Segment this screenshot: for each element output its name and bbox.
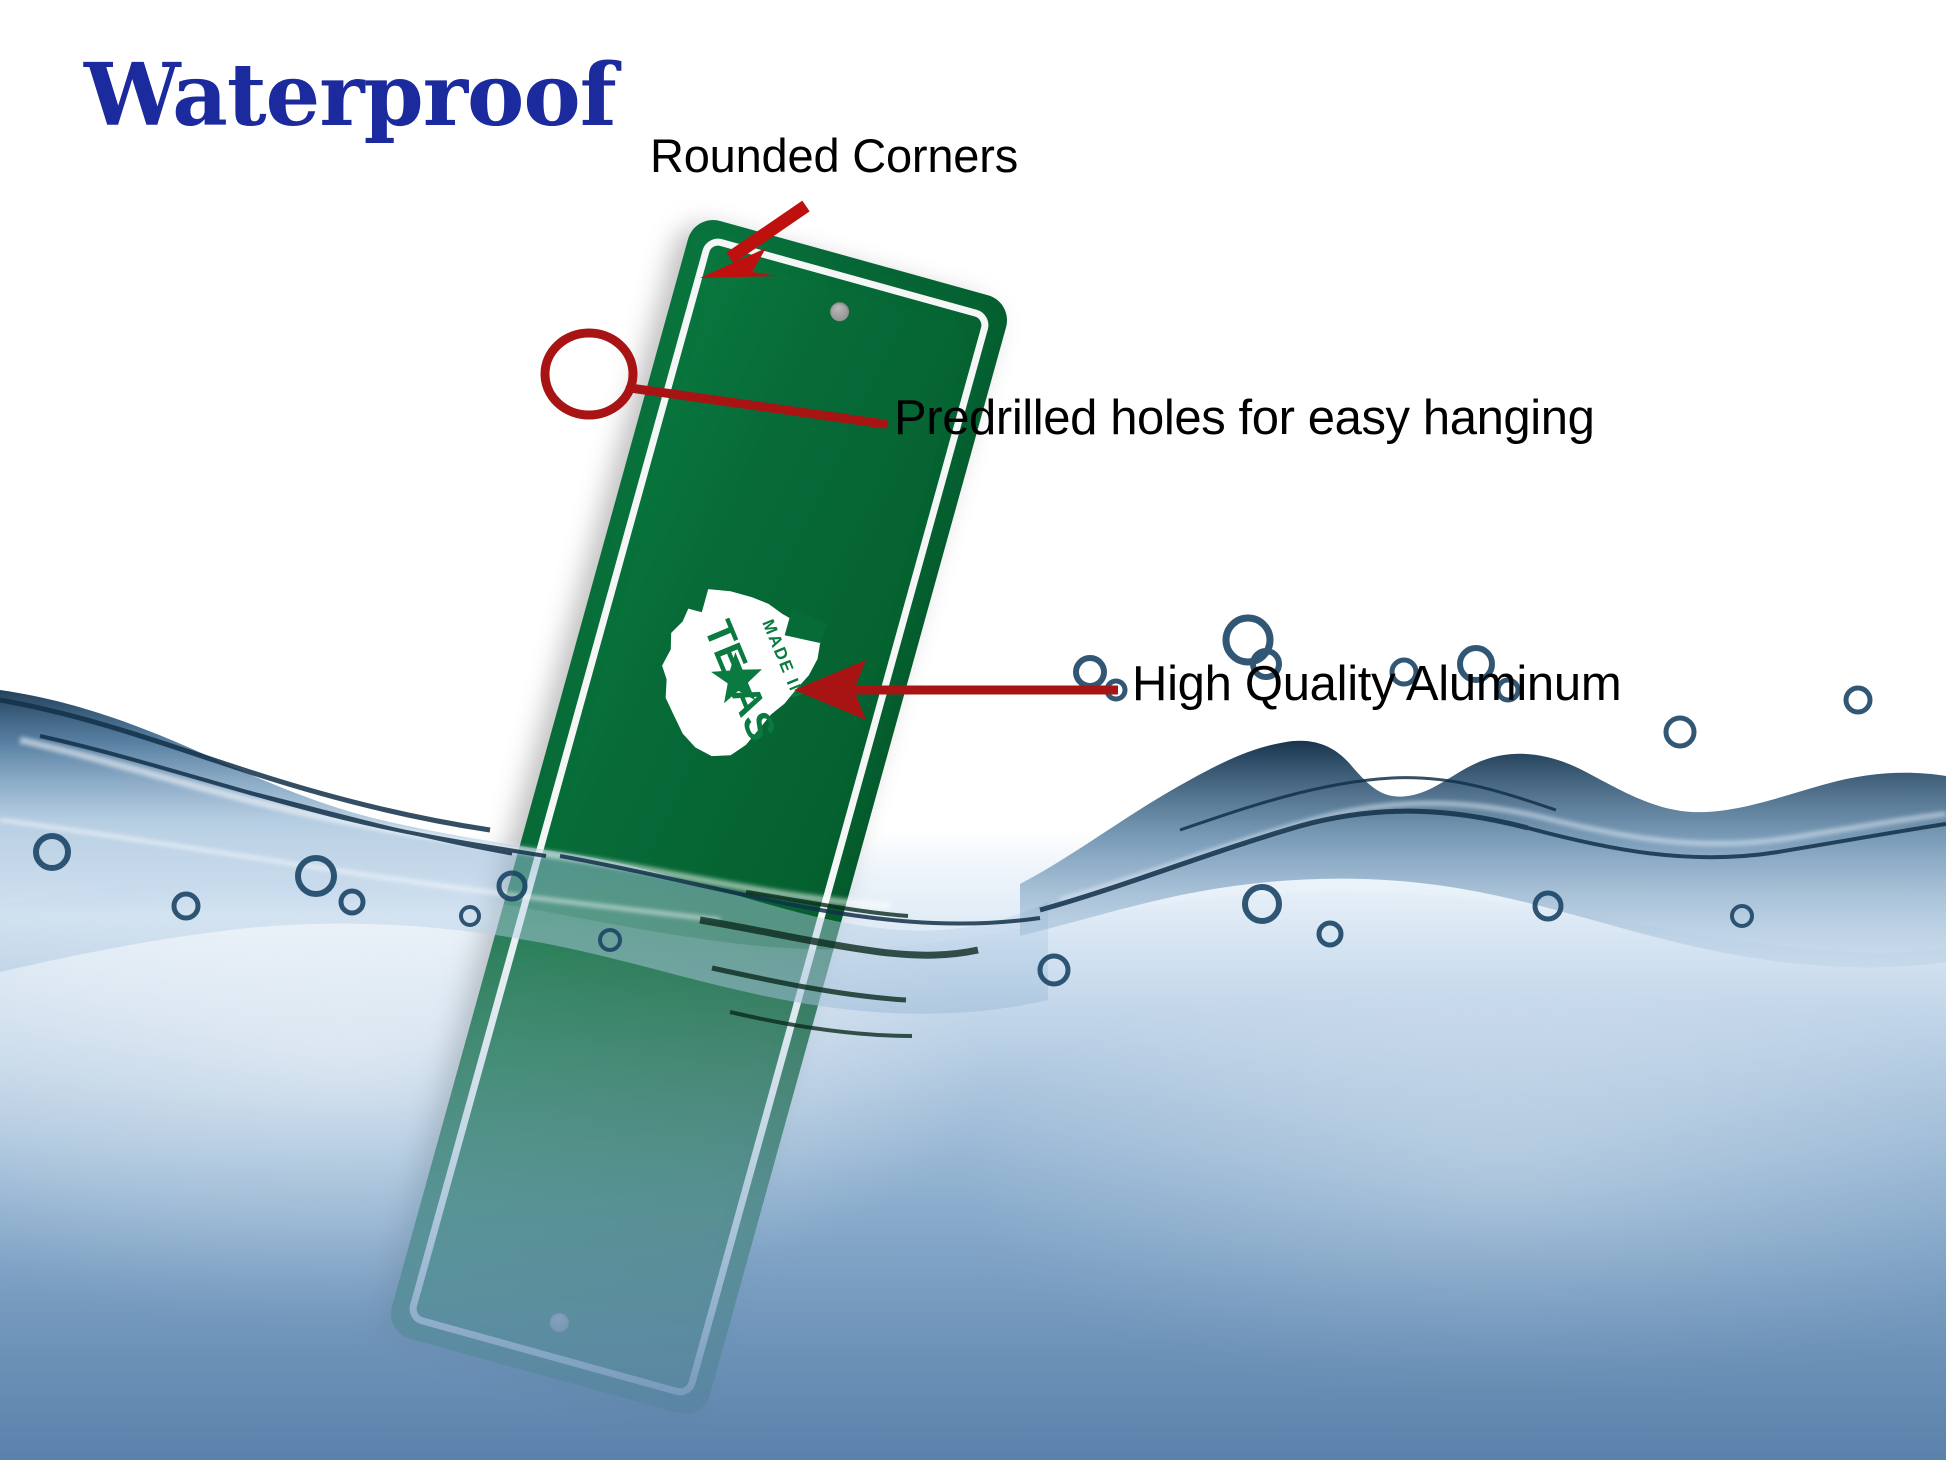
annotation-predrilled-holes: Predrilled holes for easy hanging — [894, 390, 1594, 446]
underwater-glow-right — [980, 1010, 1946, 1390]
annotation-high-quality-aluminum: High Quality Aluminum — [1132, 656, 1621, 712]
annotation-rounded-corners: Rounded Corners — [650, 128, 1018, 183]
page-title: Waterproof — [84, 45, 616, 146]
product-feature-graphic: MADE IN TE AS — [0, 0, 1946, 1460]
